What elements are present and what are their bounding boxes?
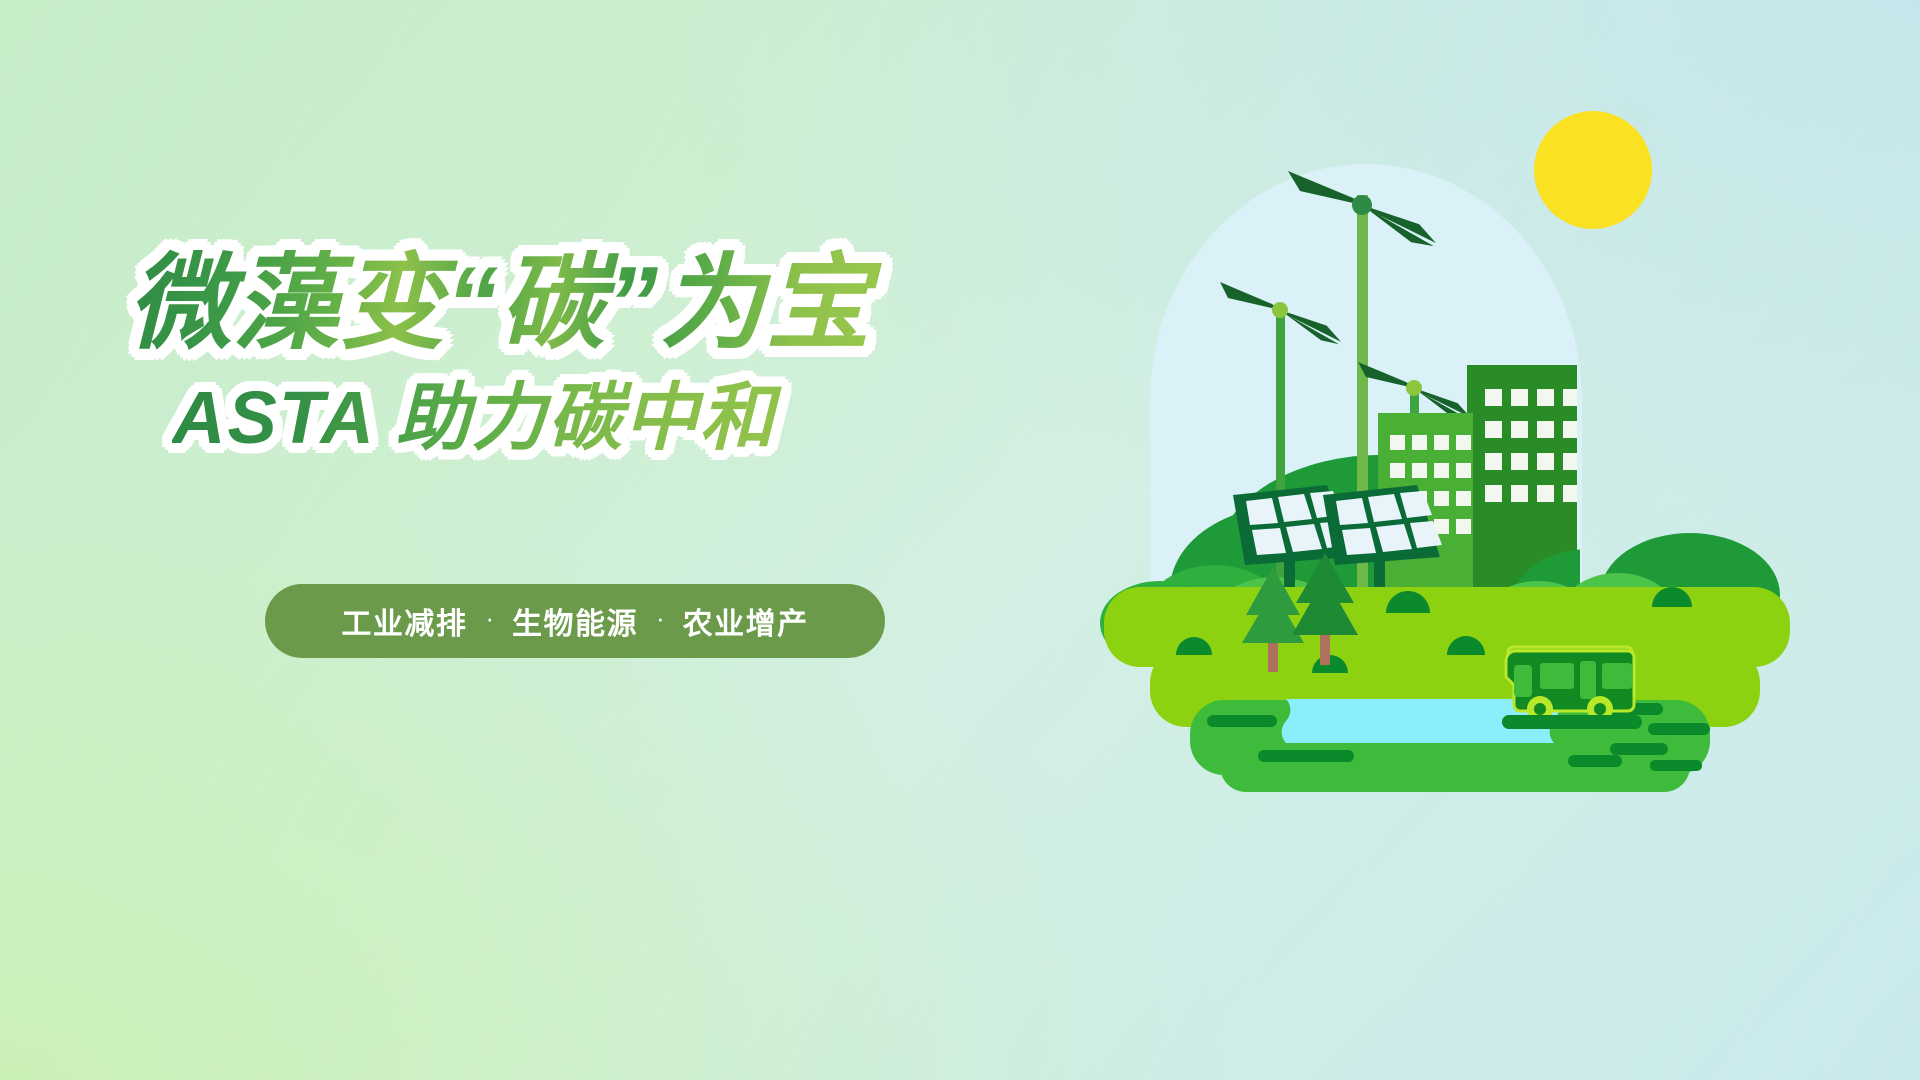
eco-banner: 微藻变“碳”为宝 ASTA 助力碳中和 工业减排 · 生物能源 · 农业增产 <box>0 0 1920 1080</box>
tagline-item-3: 农业增产 <box>683 599 809 643</box>
sun-icon <box>1534 111 1652 229</box>
tagline-pill: 工业减排 · 生物能源 · 农业增产 <box>265 584 885 658</box>
page-subtitle: ASTA 助力碳中和 <box>172 374 888 463</box>
tagline-separator-2: · <box>656 605 665 631</box>
page-title: 微藻变“碳”为宝 <box>128 246 888 362</box>
headline-block: 微藻变“碳”为宝 ASTA 助力碳中和 <box>128 246 888 463</box>
tagline-item-1: 工业减排 <box>341 599 467 643</box>
tagline-item-2: 生物能源 <box>512 599 638 643</box>
bus-icon <box>1502 647 1642 729</box>
eco-city-illustration <box>1090 95 1830 795</box>
tagline-separator-1: · <box>485 605 494 631</box>
